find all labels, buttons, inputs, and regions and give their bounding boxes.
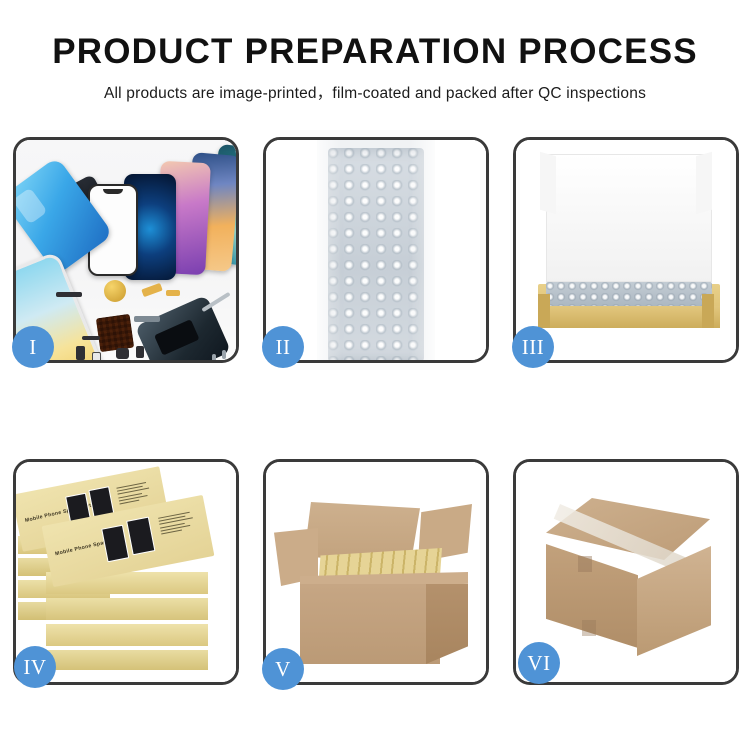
bag-sheen bbox=[315, 140, 437, 360]
step-panel-4[interactable]: Mobile Phone Spare Parts Mobile Phone Sp… bbox=[13, 459, 239, 685]
stack-slab-r2 bbox=[46, 598, 208, 620]
carton-filling-scene bbox=[266, 462, 486, 682]
speaker-part bbox=[104, 280, 126, 302]
page-title: PRODUCT PREPARATION PROCESS bbox=[0, 34, 750, 71]
carton-seam-bottom bbox=[582, 620, 596, 636]
inner-box-scene bbox=[516, 140, 736, 360]
screw-2 bbox=[222, 350, 226, 359]
bubble-wrapped-contents bbox=[546, 282, 712, 308]
step-badge-2: II bbox=[262, 326, 304, 368]
step-badge-1: I bbox=[12, 326, 54, 368]
flex-cable-2 bbox=[166, 290, 180, 296]
sealed-carton-top bbox=[546, 498, 710, 560]
steps-grid: I II bbox=[13, 137, 737, 689]
kraft-tray-side-left bbox=[538, 294, 550, 328]
phones-and-parts-scene bbox=[16, 140, 236, 360]
step-4-image: Mobile Phone Spare Parts Mobile Phone Sp… bbox=[16, 462, 236, 682]
step-panel-1[interactable]: I bbox=[13, 137, 239, 363]
part-block-3 bbox=[136, 346, 144, 358]
step-panel-3[interactable]: III bbox=[513, 137, 739, 363]
part-block-4 bbox=[92, 352, 101, 360]
flex-cable-3 bbox=[134, 316, 160, 322]
step-badge-3: III bbox=[512, 326, 554, 368]
carton-seam-top bbox=[578, 556, 592, 572]
carton-side-face bbox=[426, 584, 468, 664]
screw-tray-part bbox=[96, 314, 134, 352]
step-badge-4: IV bbox=[14, 646, 56, 688]
step-1-image bbox=[16, 140, 236, 360]
sealed-carton-right-face bbox=[637, 546, 711, 656]
step-badge-6: VI bbox=[518, 642, 560, 684]
step-panel-6[interactable]: VI bbox=[513, 459, 739, 685]
page-subtitle: All products are image-printed，film-coat… bbox=[0, 81, 750, 103]
product-preparation-infographic: PRODUCT PREPARATION PROCESS All products… bbox=[0, 0, 750, 750]
step-3-image bbox=[516, 140, 736, 360]
box-lid-white bbox=[546, 154, 712, 282]
step-panel-2[interactable]: II bbox=[263, 137, 489, 363]
phone-back-housing bbox=[135, 295, 231, 360]
kraft-tray-side-right bbox=[702, 294, 714, 328]
part-strip-1 bbox=[56, 292, 82, 297]
stacked-boxes-scene: Mobile Phone Spare Parts Mobile Phone Sp… bbox=[16, 462, 236, 682]
step-5-image bbox=[266, 462, 486, 682]
part-block-1 bbox=[76, 346, 85, 360]
flex-cable-1 bbox=[141, 283, 163, 297]
step-2-image bbox=[266, 140, 486, 360]
part-block-2 bbox=[116, 348, 129, 359]
lid-flap-right bbox=[696, 152, 712, 215]
lid-flap-left bbox=[540, 152, 556, 215]
screw-1 bbox=[212, 354, 216, 360]
header: PRODUCT PREPARATION PROCESS All products… bbox=[0, 0, 750, 103]
kraft-tray-front bbox=[538, 306, 720, 328]
step-panel-5[interactable]: V bbox=[263, 459, 489, 685]
carton-front-face bbox=[300, 584, 440, 664]
stack-slab-r3 bbox=[46, 624, 208, 646]
stack-slab-r4 bbox=[46, 650, 208, 670]
part-strip-2 bbox=[82, 336, 100, 340]
step-badge-5: V bbox=[262, 648, 304, 690]
bubble-wrap-scene bbox=[266, 140, 486, 360]
